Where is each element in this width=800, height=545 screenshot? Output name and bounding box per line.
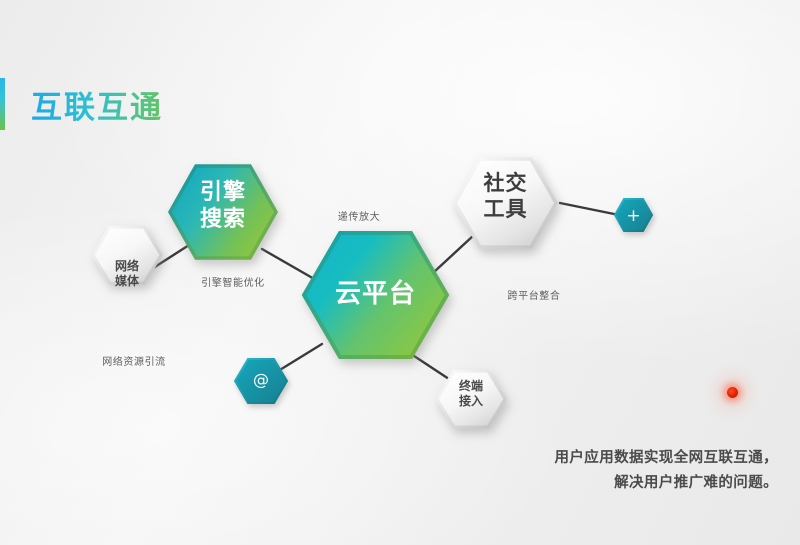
hex-node-email[interactable] bbox=[235, 359, 287, 403]
connector-social-to-plus bbox=[560, 203, 619, 215]
hex-node-network-media[interactable] bbox=[93, 227, 161, 283]
hex-node-cloud-platform[interactable] bbox=[304, 233, 447, 357]
caption-engine-optimization: 引擎智能优化 bbox=[188, 274, 278, 289]
hex-node-social-tools[interactable] bbox=[455, 159, 556, 247]
hex-node-plus[interactable] bbox=[615, 199, 652, 231]
summary-statement-line-1: 用户应用数据实现全网互联互通， bbox=[478, 446, 778, 471]
hex-node-engine-search[interactable] bbox=[170, 166, 276, 258]
hex-node-terminal-access[interactable] bbox=[437, 371, 505, 427]
caption-cross-platform-integration: 跨平台整合 bbox=[491, 287, 577, 302]
summary-statement-line-2: 解决用户推广难的问题。 bbox=[478, 471, 778, 496]
caption-spread-amplify: 递传放大 bbox=[327, 208, 391, 223]
summary-statement: 用户应用数据实现全网互联互通， 解决用户推广难的问题。 bbox=[478, 446, 778, 497]
slide-canvas: 互联互通 bbox=[0, 0, 800, 545]
cursor-indicator-dot bbox=[727, 387, 738, 398]
caption-network-resource-traffic: 网络资源引流 bbox=[86, 353, 182, 368]
